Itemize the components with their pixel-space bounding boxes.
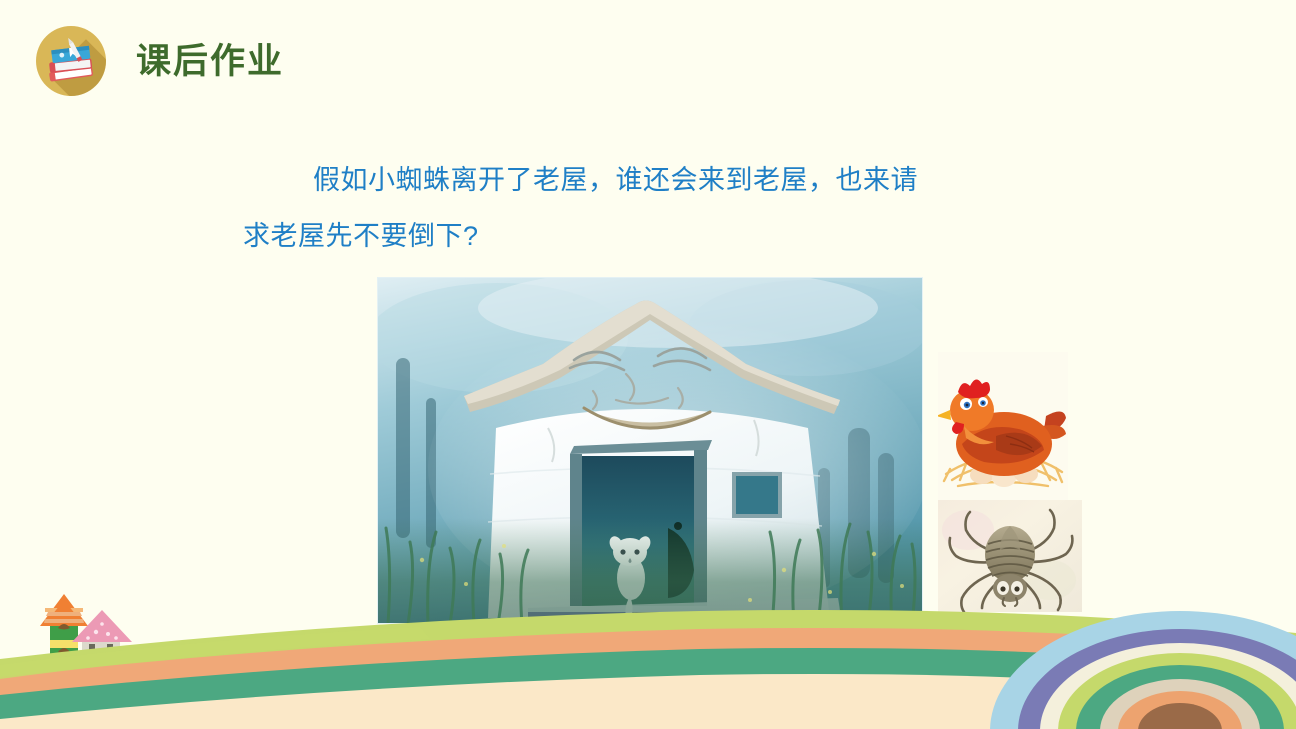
old-house-illustration bbox=[377, 277, 923, 624]
question-text-block: 假如小蜘蛛离开了老屋，谁还会来到老屋，也来请 求老屋先不要倒下? bbox=[243, 152, 1063, 264]
question-line-1-text: 假如小蜘蛛离开了老屋，谁还会来到老屋，也来请 bbox=[313, 165, 918, 195]
spider-image bbox=[938, 500, 1082, 612]
decorative-buildings bbox=[36, 594, 156, 674]
hen-on-nest-image bbox=[938, 352, 1068, 502]
question-line-1: 假如小蜘蛛离开了老屋，谁还会来到老屋，也来请 bbox=[243, 152, 1063, 208]
slide-canvas: 课后作业 假如小蜘蛛离开了老屋，谁还会来到老屋，也来请 求老屋先不要倒下? bbox=[0, 0, 1296, 729]
slide-header: 课后作业 bbox=[36, 26, 284, 96]
page-title: 课后作业 bbox=[136, 44, 284, 79]
books-homework-icon bbox=[36, 26, 106, 96]
question-line-2: 求老屋先不要倒下? bbox=[243, 208, 1063, 264]
